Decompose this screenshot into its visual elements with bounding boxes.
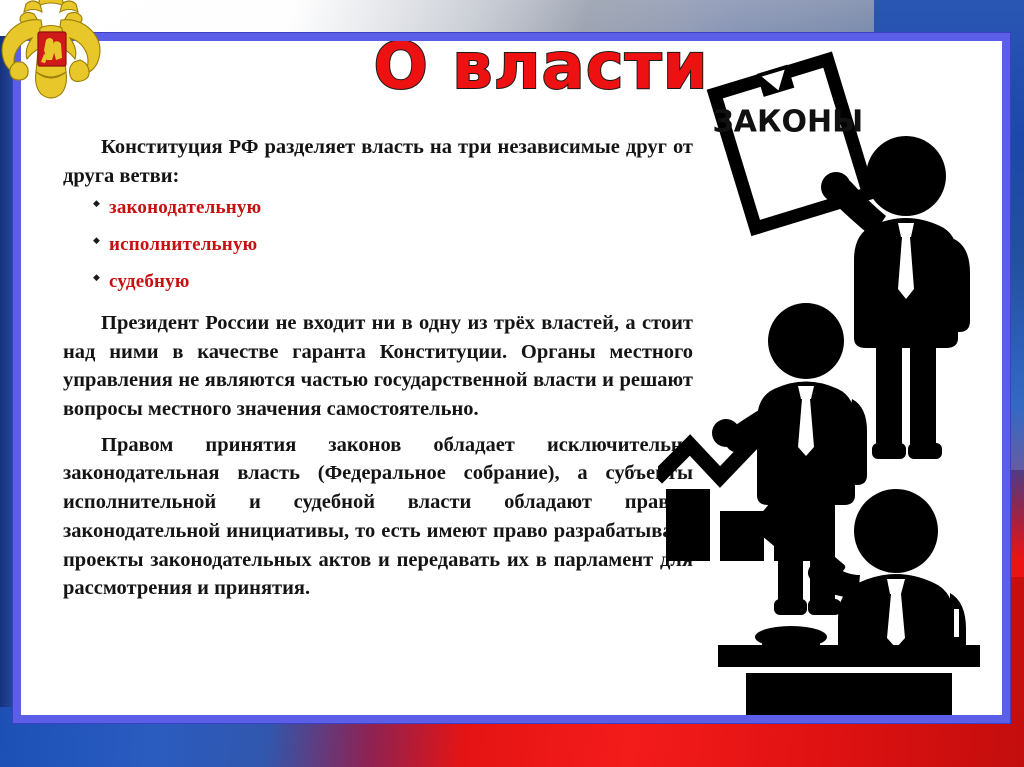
bench-front — [746, 673, 952, 715]
paragraph-intro: Конституция РФ разделяет власть на три н… — [63, 133, 693, 190]
bench-top — [718, 645, 980, 667]
list-item-executive: исполнительную — [109, 235, 693, 256]
head — [854, 489, 938, 573]
coat-of-arms-emblem — [0, 0, 106, 104]
list-item-judicial: судебную — [109, 272, 693, 293]
head — [768, 303, 844, 379]
list-item-legislative: законодательную — [109, 198, 693, 219]
head — [866, 136, 946, 216]
illustration-group: ЗАКОНЫ — [658, 41, 1002, 715]
clipboard-label: ЗАКОНЫ — [712, 104, 863, 139]
slide: О власти Конституция РФ разделяет власть… — [0, 0, 1024, 767]
illustration-svg: ЗАКОНЫ — [658, 41, 1002, 715]
figure-judicial — [718, 489, 980, 715]
content-card: О власти Конституция РФ разделяет власть… — [21, 41, 1002, 715]
body-text-column: Конституция РФ разделяет власть на три н… — [63, 133, 693, 610]
page-title: О власти — [321, 41, 761, 99]
content-frame: О власти Конституция РФ разделяет власть… — [13, 33, 1010, 723]
chart-bar-1 — [666, 489, 710, 561]
paragraph-president: Президент России не входит ни в одну из … — [63, 309, 693, 424]
branches-list: законодательную исполнительную судебную — [63, 198, 693, 293]
paragraph-lawmaking: Правом принятия законов обладает исключи… — [63, 431, 693, 603]
